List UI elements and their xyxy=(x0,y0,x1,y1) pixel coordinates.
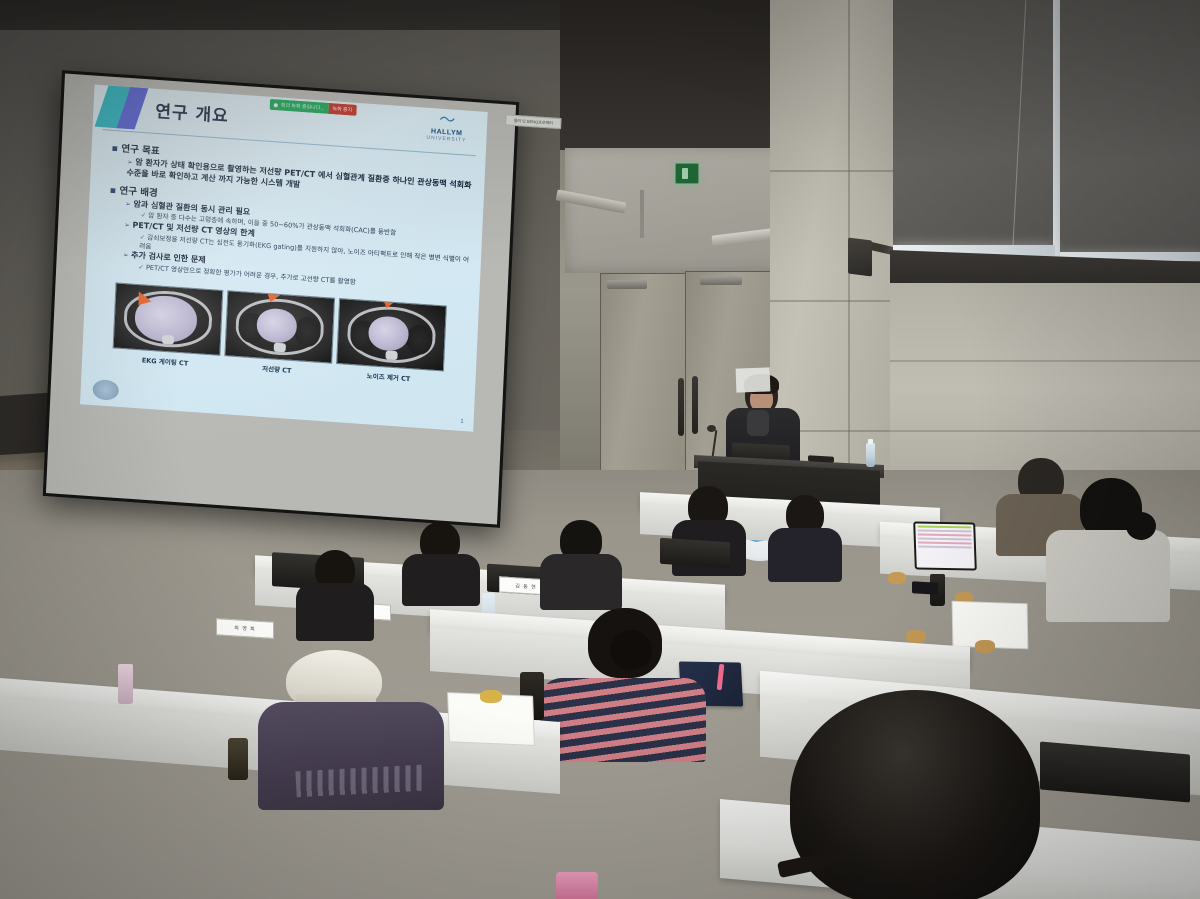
tablet-content-line xyxy=(917,530,971,533)
slide-page-number: 1 xyxy=(460,419,464,425)
snack xyxy=(975,640,995,653)
ct-figure: EKG 게이팅 CT xyxy=(112,282,221,371)
ct-figure: 저선량 CT xyxy=(224,290,333,379)
phone[interactable] xyxy=(912,581,938,594)
microphone-icon xyxy=(707,425,716,432)
water-bottle xyxy=(866,443,875,467)
window-blind-left[interactable] xyxy=(893,0,1053,262)
audience-body xyxy=(402,554,480,606)
ct-image-denoised xyxy=(336,298,447,371)
tablet-content-line xyxy=(917,526,971,529)
ct-image-lowdose xyxy=(224,290,335,363)
exit-sign-icon xyxy=(675,163,699,184)
snack xyxy=(906,630,926,643)
slide-emblem-icon xyxy=(92,379,119,401)
wall-seam xyxy=(890,430,1200,432)
door-handle-left[interactable] xyxy=(678,378,684,436)
nameplate: 최 영 희 xyxy=(216,618,274,639)
audience-body-striped xyxy=(540,678,706,762)
wall-seam xyxy=(890,360,1200,362)
slide-title: 연구 개요 xyxy=(155,97,229,127)
ct-figure-row: EKG 게이팅 CT 저선량 CT xyxy=(112,282,445,387)
audience-body xyxy=(540,554,622,610)
tablet-content-line xyxy=(918,542,972,545)
record-dot-icon xyxy=(274,103,278,107)
tablet-device[interactable] xyxy=(913,521,977,570)
audience-body xyxy=(1046,530,1170,622)
lecture-hall-photo: 연구 개요 〜 HALLYM UNIVERSITY 회의 녹화 중입니다... … xyxy=(0,0,1200,899)
audience-body xyxy=(768,528,842,582)
ct-spine xyxy=(162,335,174,345)
door-closer-right xyxy=(700,276,742,285)
slide-body: 연구 목표 암 환자가 상태 확인용으로 촬영하는 저선량 PET/CT 에서 … xyxy=(100,135,477,296)
recording-status-label: 회의 녹화 중입니다... xyxy=(281,102,325,112)
presenter-remote[interactable] xyxy=(808,455,834,462)
pink-cup xyxy=(556,872,598,899)
ct-spine xyxy=(385,350,397,360)
ct-figure: 노이즈 제거 CT xyxy=(335,298,444,387)
wall-speaker-icon xyxy=(848,238,872,277)
hair-bun xyxy=(610,630,652,670)
snack xyxy=(480,690,502,703)
podium-paper xyxy=(736,367,771,392)
stop-recording-button[interactable]: 녹화 중지 xyxy=(328,103,356,116)
ceiling-light-rod xyxy=(640,190,644,238)
hair-bun xyxy=(1126,512,1156,540)
desk-monitor[interactable] xyxy=(660,538,730,568)
projection-screen: 연구 개요 〜 HALLYM UNIVERSITY 회의 녹화 중입니다... … xyxy=(43,70,519,528)
presentation-slide: 연구 개요 〜 HALLYM UNIVERSITY 회의 녹화 중입니다... … xyxy=(80,85,488,432)
drink-bottle xyxy=(228,738,248,780)
window-blind-right[interactable] xyxy=(1060,0,1200,270)
door-closer-left xyxy=(607,280,647,289)
presenter-shirt xyxy=(747,410,769,436)
tablet-screen[interactable] xyxy=(915,523,975,568)
ct-caption: EKG 게이팅 CT xyxy=(112,352,218,369)
ct-caption: 노이즈 제거 CT xyxy=(335,368,441,385)
ct-image-gated xyxy=(113,282,224,355)
tablet-content-line xyxy=(918,538,972,541)
ct-caption: 저선량 CT xyxy=(224,360,330,377)
snack xyxy=(888,572,906,584)
tablet-content-line xyxy=(918,546,972,549)
door-left[interactable] xyxy=(600,273,687,475)
tablet-content-line xyxy=(918,534,972,537)
ct-spine xyxy=(274,343,286,353)
audience-body xyxy=(296,583,374,641)
water-bottle xyxy=(118,664,133,704)
hallym-logo: 〜 HALLYM UNIVERSITY xyxy=(416,111,477,144)
